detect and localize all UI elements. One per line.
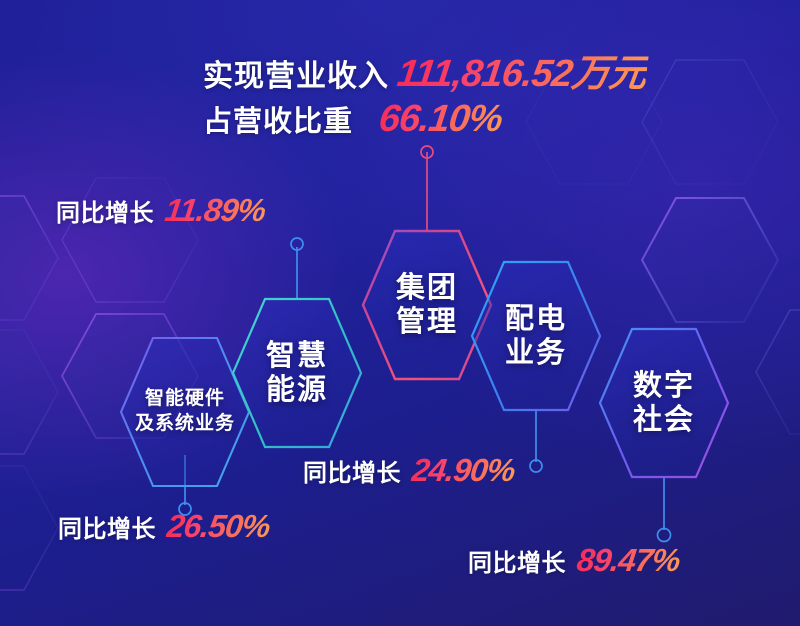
hexagon-smart-hardware: 智能硬件 及系统业务 xyxy=(121,338,249,486)
callout-smart-energy: 同比增长 26.50% xyxy=(58,508,270,545)
callout-digital-society-value: 89.47% xyxy=(575,542,682,579)
hexagon-digital-society: 数字 社会 xyxy=(600,329,728,477)
hexagon-smart-energy-label: 智慧 能源 xyxy=(266,339,328,407)
callout-smart-hardware-label: 同比增长 xyxy=(56,193,154,228)
callout-smart-hardware: 同比增长 11.89% xyxy=(56,192,265,229)
hexagon-group-management-label: 集团 管理 xyxy=(396,271,458,339)
header-share-value: 66.10% xyxy=(376,98,504,141)
callout-digital-society-label: 同比增长 xyxy=(468,543,566,578)
callout-distribution-value: 24.90% xyxy=(410,452,517,489)
callout-distribution-label: 同比增长 xyxy=(303,453,401,488)
hexagon-digital-society-label: 数字 社会 xyxy=(633,369,695,437)
header-revenue-value: 111,816.52万元 xyxy=(395,42,650,97)
callout-smart-energy-label: 同比增长 xyxy=(58,509,156,544)
hexagon-distribution: 配电 业务 xyxy=(472,262,600,410)
header-share-label: 占营收比重 xyxy=(203,98,353,140)
header-revenue-line: 实现营业收入 111,816.52万元 xyxy=(203,42,647,97)
hexagon-smart-energy: 智慧 能源 xyxy=(233,299,361,447)
header-share-line: 占营收比重 66.10% xyxy=(203,98,502,141)
callout-digital-society: 同比增长 89.47% xyxy=(468,542,680,579)
callout-distribution: 同比增长 24.90% xyxy=(303,452,515,489)
callout-smart-hardware-value: 11.89% xyxy=(163,192,268,229)
callout-smart-energy-value: 26.50% xyxy=(165,508,272,545)
header-revenue-label: 实现营业收入 xyxy=(203,51,389,95)
infographic-canvas: 实现营业收入 111,816.52万元 占营收比重 66.10% 同比增长 11… xyxy=(0,0,800,626)
hexagon-distribution-label: 配电 业务 xyxy=(505,302,567,370)
hexagon-smart-hardware-label: 智能硬件 及系统业务 xyxy=(135,387,235,436)
